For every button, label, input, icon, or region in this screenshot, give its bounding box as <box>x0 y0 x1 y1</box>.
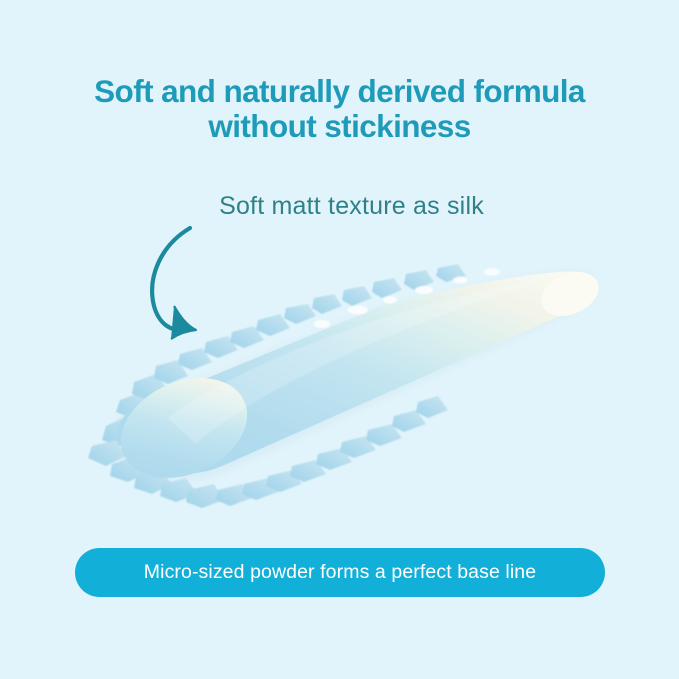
powder-swatch-image <box>72 250 612 515</box>
subheading-text: Soft matt texture as silk <box>0 192 679 221</box>
page-title: Soft and naturally derived formula witho… <box>0 74 679 144</box>
product-feature-image: Soft and naturally derived formula witho… <box>0 0 679 679</box>
banner-pill: Micro-sized powder forms a perfect base … <box>75 548 605 597</box>
banner-text: Micro-sized powder forms a perfect base … <box>144 561 536 584</box>
headline-line-1: Soft and naturally derived formula <box>0 74 679 109</box>
headline-line-2: without stickiness <box>0 109 679 144</box>
